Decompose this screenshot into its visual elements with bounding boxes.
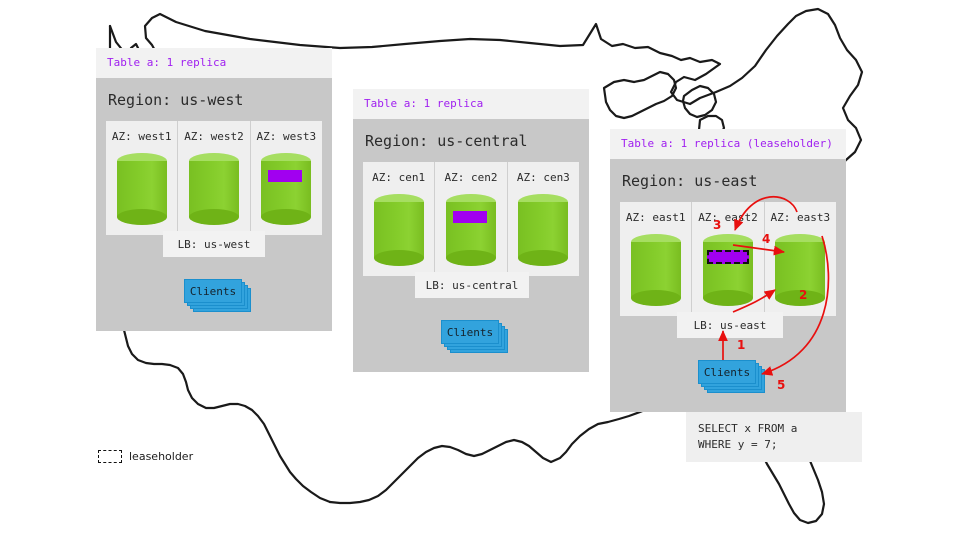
region-name-us-east: Region: us-east (620, 159, 836, 202)
clients-label: Clients (704, 366, 750, 379)
az-cell-east1[interactable]: AZ: east1 (620, 202, 691, 316)
cylinder-bottom-icon (189, 209, 239, 225)
az-row-us-central: AZ: cen1 AZ: cen2 (363, 162, 579, 276)
az-cell-east2[interactable]: AZ: east2 (691, 202, 763, 316)
region-title-us-west: Table a: 1 replica (96, 48, 332, 78)
load-balancer-label: LB: us-east (694, 319, 767, 332)
leaseholder-marker-east2[interactable] (707, 250, 749, 264)
cylinder-bottom-icon (374, 250, 424, 266)
cylinder-bottom-icon (117, 209, 167, 225)
az-cell-west3[interactable]: AZ: west3 (250, 121, 322, 235)
az-label-cen2: AZ: cen2 (445, 171, 498, 184)
load-balancer-label: LB: us-central (426, 279, 519, 292)
flow-label-3: 3 (713, 218, 721, 232)
clients-card-front[interactable]: Clients (184, 279, 242, 303)
load-balancer-us-east[interactable]: LB: us-east (677, 312, 783, 338)
az-cell-cen3[interactable]: AZ: cen3 (507, 162, 579, 276)
cylinder-bottom-icon (703, 290, 753, 306)
az-label-cen3: AZ: cen3 (517, 171, 570, 184)
load-balancer-label: LB: us-west (178, 238, 251, 251)
node-cylinder-east1[interactable] (631, 234, 681, 306)
sql-statement-box: SELECT x FROM a WHERE y = 7; (686, 412, 862, 462)
sql-statement-text: SELECT x FROM a WHERE y = 7; (698, 422, 797, 451)
clients-us-west[interactable]: Clients (184, 279, 246, 311)
region-panel-us-central: Table a: 1 replica Region: us-central AZ… (353, 89, 589, 372)
legend-leaseholder: leaseholder (98, 450, 193, 463)
region-panel-us-east: Table a: 1 replica (leaseholder) Region:… (610, 129, 846, 412)
flow-label-2: 2 (799, 288, 807, 302)
replica-marker-west3[interactable] (268, 170, 302, 182)
az-cell-west2[interactable]: AZ: west2 (177, 121, 249, 235)
az-label-west3: AZ: west3 (257, 130, 317, 143)
az-label-west1: AZ: west1 (112, 130, 172, 143)
az-cell-cen1[interactable]: AZ: cen1 (363, 162, 434, 276)
cylinder-bottom-icon (261, 209, 311, 225)
az-label-east1: AZ: east1 (626, 211, 686, 224)
clients-card-front[interactable]: Clients (698, 360, 756, 384)
load-balancer-us-west[interactable]: LB: us-west (163, 231, 265, 257)
clients-label: Clients (190, 285, 236, 298)
az-label-west2: AZ: west2 (184, 130, 244, 143)
clients-label: Clients (447, 326, 493, 339)
az-label-cen1: AZ: cen1 (372, 171, 425, 184)
node-cylinder-west2[interactable] (189, 153, 239, 225)
region-panel-us-west: Table a: 1 replica Region: us-west AZ: w… (96, 48, 332, 331)
az-cell-cen2[interactable]: AZ: cen2 (434, 162, 506, 276)
node-cylinder-west1[interactable] (117, 153, 167, 225)
node-cylinder-cen2[interactable] (446, 194, 496, 266)
cylinder-bottom-icon (446, 250, 496, 266)
legend-label: leaseholder (129, 450, 193, 463)
region-name-us-west: Region: us-west (106, 78, 322, 121)
replica-marker-cen2[interactable] (453, 211, 487, 223)
az-label-east3: AZ: east3 (771, 211, 831, 224)
region-title-us-central: Table a: 1 replica (353, 89, 589, 119)
region-title-us-east: Table a: 1 replica (leaseholder) (610, 129, 846, 159)
node-cylinder-cen1[interactable] (374, 194, 424, 266)
cylinder-bottom-icon (631, 290, 681, 306)
node-cylinder-west3[interactable] (261, 153, 311, 225)
node-cylinder-east2[interactable] (703, 234, 753, 306)
cylinder-bottom-icon (518, 250, 568, 266)
az-label-east2: AZ: east2 (698, 211, 758, 224)
region-name-us-central: Region: us-central (363, 119, 579, 162)
clients-us-east[interactable]: Clients (698, 360, 760, 392)
az-row-us-west: AZ: west1 AZ: west2 AZ (106, 121, 322, 235)
diagram-canvas: Table a: 1 replica Region: us-west AZ: w… (0, 0, 960, 540)
flow-label-5: 5 (777, 378, 785, 392)
az-cell-west1[interactable]: AZ: west1 (106, 121, 177, 235)
clients-card-front[interactable]: Clients (441, 320, 499, 344)
clients-us-central[interactable]: Clients (441, 320, 503, 352)
leaseholder-swatch-icon (98, 450, 122, 463)
load-balancer-us-central[interactable]: LB: us-central (415, 272, 529, 298)
flow-label-4: 4 (762, 232, 770, 246)
flow-label-1: 1 (737, 338, 745, 352)
node-cylinder-cen3[interactable] (518, 194, 568, 266)
